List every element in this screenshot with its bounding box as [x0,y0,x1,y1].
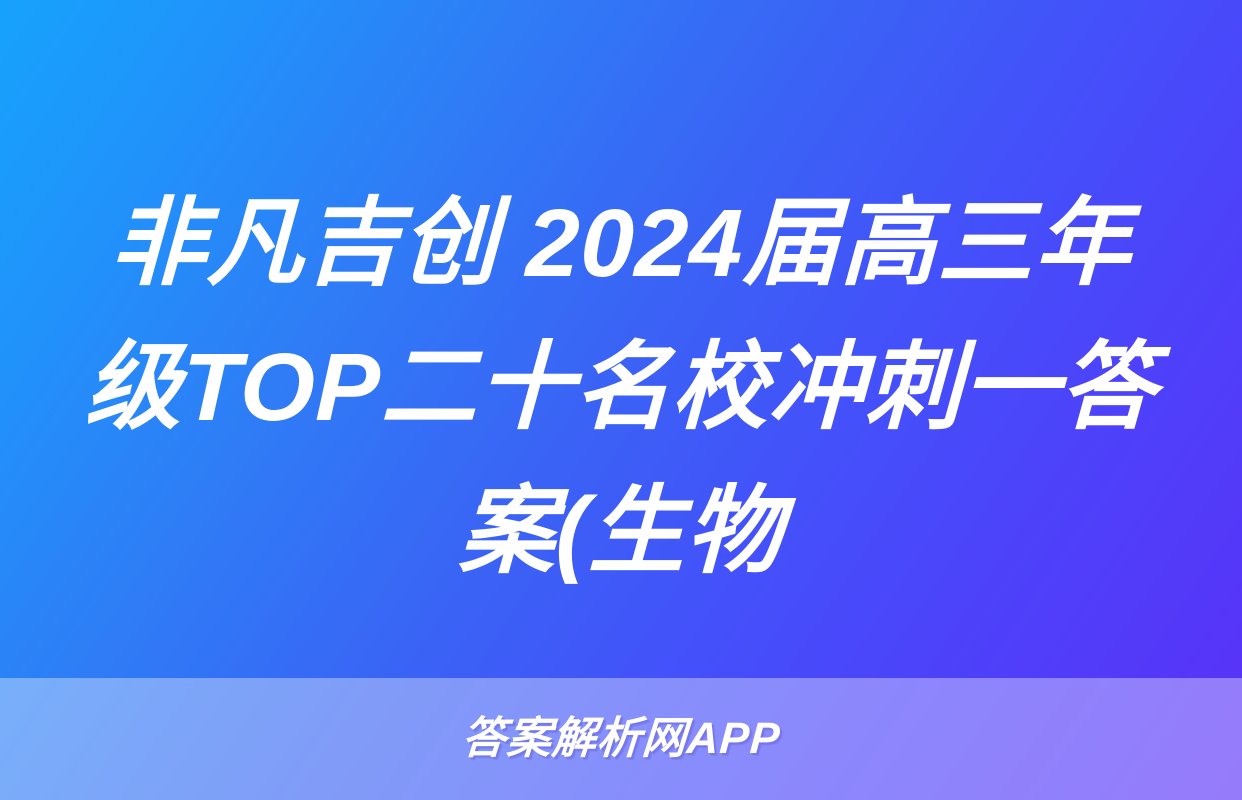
page-title: 非凡吉创 2024届高三年 级TOP二十名校冲刺一答 案(生物 [0,172,1242,604]
cover-card: 非凡吉创 2024届高三年 级TOP二十名校冲刺一答 案(生物 答案解析网APP [0,0,1242,800]
title-line-2: 级TOP二十名校冲刺一答 [70,316,1172,460]
watermark-label: 答案解析网APP [460,717,782,761]
title-line-3: 案(生物 [70,460,1172,604]
watermark-band: 答案解析网APP [0,678,1242,800]
title-line-1: 非凡吉创 2024届高三年 [70,172,1172,316]
